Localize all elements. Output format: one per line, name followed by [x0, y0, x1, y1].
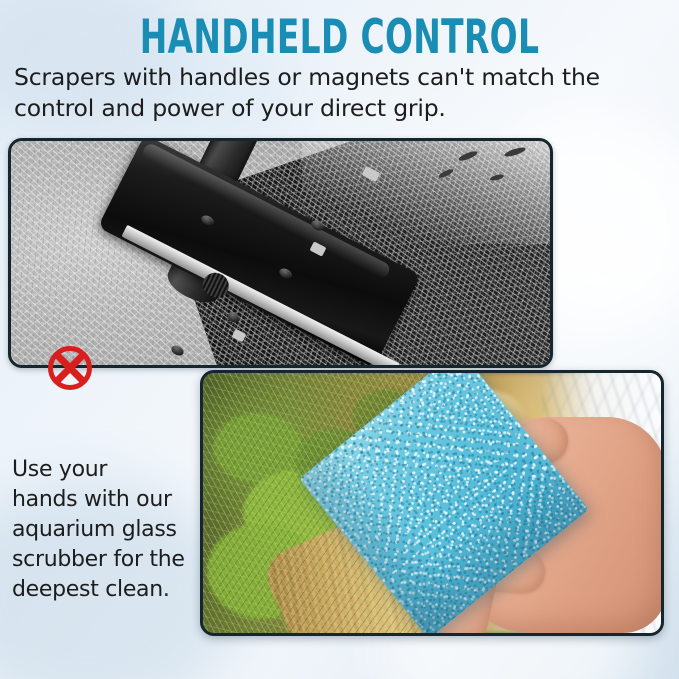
body-copy: Use your hands with our aquarium glass s…	[12, 455, 198, 605]
panel-sponge-photo	[200, 370, 664, 636]
body-copy-line-4: scrubber for the	[12, 545, 198, 575]
scraper-photo-content	[11, 141, 550, 365]
body-copy-line-2: hands with our	[12, 485, 198, 515]
prohibition-x-icon	[46, 344, 94, 392]
subtitle-line-2: control and power of your direct grip.	[14, 93, 614, 124]
subtitle: Scrapers with handles or magnets can't m…	[14, 62, 614, 124]
body-copy-line-1: Use your	[12, 455, 198, 485]
sponge-photo-content	[203, 373, 661, 633]
body-copy-line-3: aquarium glass	[12, 515, 198, 545]
headline: HANDHELD CONTROL	[102, 14, 577, 62]
frosted-glass-highlight	[302, 141, 550, 244]
product-infographic: HANDHELD CONTROL Scrapers with handles o…	[0, 0, 679, 679]
body-copy-line-5: deepest clean.	[12, 575, 198, 605]
subtitle-line-1: Scrapers with handles or magnets can't m…	[14, 62, 614, 93]
panel-scraper-photo	[8, 138, 553, 368]
